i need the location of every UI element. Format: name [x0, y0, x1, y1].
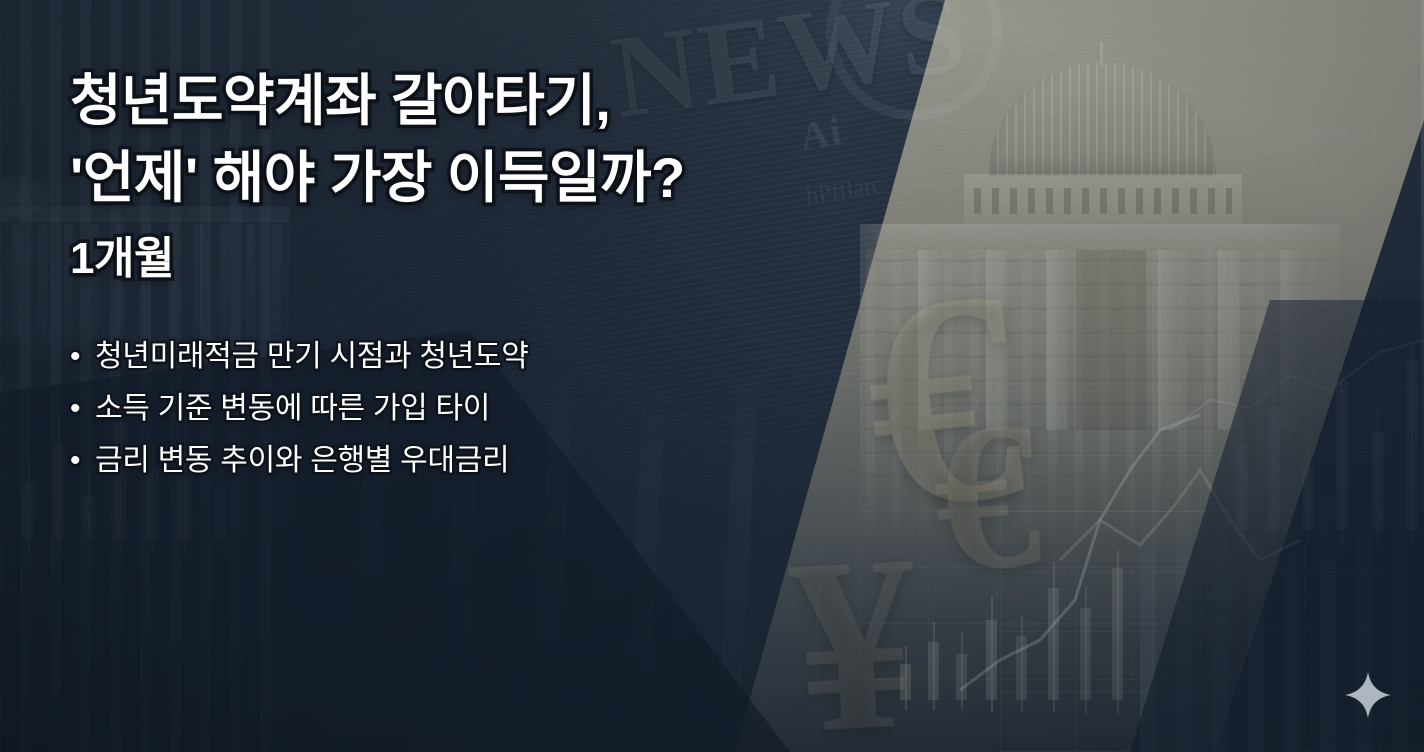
subtitle-duration: 1개월 — [70, 233, 1354, 286]
list-item: • 금리 변동 추이와 은행별 우대금리 — [70, 435, 1354, 487]
list-item: • 청년미래적금 만기 시점과 청년도약 — [70, 331, 1354, 383]
page-title: 청년도약계좌 갈아타기, '언제' 해야 가장 이득일까? — [70, 62, 1354, 217]
title-line-2: '언제' 해야 가장 이득일까? — [70, 139, 1354, 216]
list-item-label: 소득 기준 변동에 따른 가입 타이 — [95, 383, 490, 435]
bullet-point-icon: • — [70, 331, 95, 383]
title-line-1: 청년도약계좌 갈아타기, — [70, 62, 1354, 139]
list-item-label: 청년미래적금 만기 시점과 청년도약 — [95, 331, 529, 383]
bullet-point-icon: • — [70, 435, 95, 487]
bullet-point-icon: • — [70, 383, 95, 435]
content-area: 청년도약계좌 갈아타기, '언제' 해야 가장 이득일까? 1개월 • 청년미래… — [0, 0, 1424, 752]
list-item: • 소득 기준 변동에 따른 가입 타이 — [70, 383, 1354, 435]
list-item-label: 금리 변동 추이와 은행별 우대금리 — [95, 435, 509, 487]
highlight-list: • 청년미래적금 만기 시점과 청년도약 • 소득 기준 변동에 따른 가입 타… — [70, 331, 1354, 487]
thumbnail-card: NEWS Ai hPfflarc € € ¥ 18.302.4 자금개비 지급개… — [0, 0, 1424, 752]
sparkle-icon — [1344, 671, 1392, 719]
